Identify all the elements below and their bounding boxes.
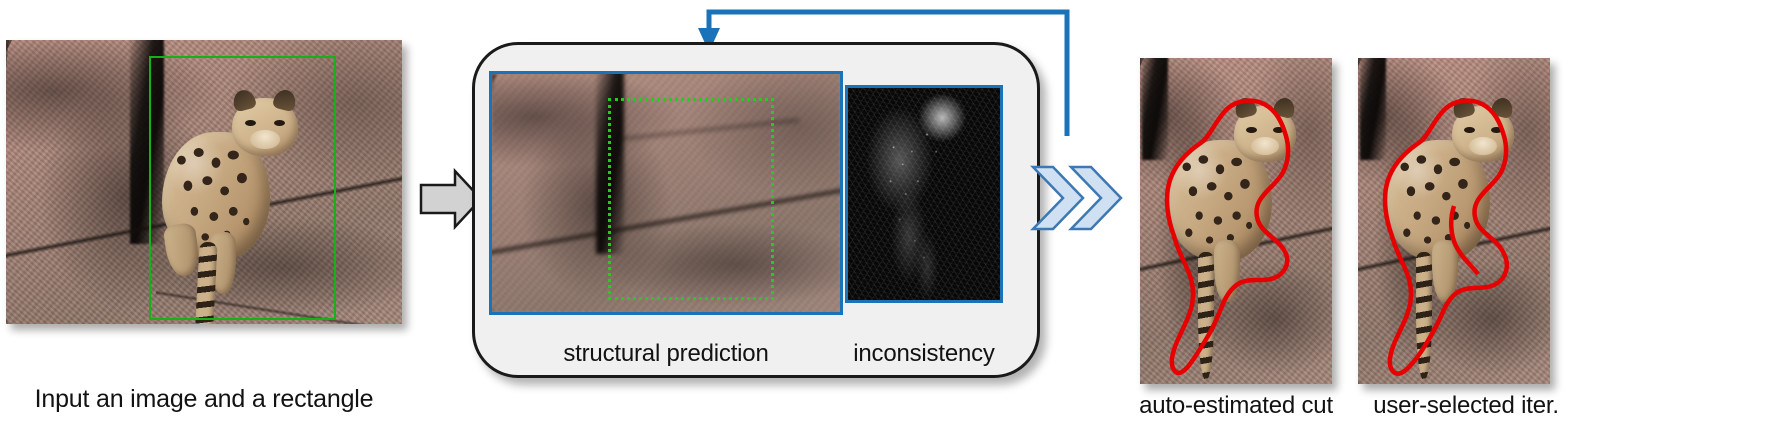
inconsistency-caption: inconsistency bbox=[848, 340, 1000, 368]
structural-prediction-caption: structural prediction bbox=[492, 340, 840, 368]
chevron-arrows-pipeline-to-output bbox=[1030, 163, 1126, 237]
input-caption: Input an image and a rectangle bbox=[6, 385, 402, 414]
auto-estimated-cut-caption: auto-estimated cut bbox=[1110, 392, 1362, 420]
structural-prediction-image[interactable] bbox=[492, 74, 840, 312]
cat-ear-left bbox=[231, 87, 258, 112]
cat-eye-right bbox=[274, 120, 285, 126]
inconsistency-edge-map bbox=[848, 88, 1000, 300]
user-selected-iter-image[interactable] bbox=[1358, 58, 1550, 384]
user-selected-iter-caption: user-selected iter. bbox=[1340, 392, 1592, 420]
cat-subject bbox=[154, 92, 322, 324]
cat-head bbox=[232, 98, 298, 156]
auto-estimated-cut-image[interactable] bbox=[1140, 58, 1332, 384]
input-image[interactable] bbox=[6, 40, 402, 324]
cat-muzzle bbox=[250, 130, 279, 149]
auto-estimated-cut-contour bbox=[1140, 58, 1332, 384]
cat-eye-left bbox=[245, 120, 256, 126]
user-selected-iter-contour bbox=[1358, 58, 1550, 384]
inconsistency-image[interactable] bbox=[848, 88, 1000, 300]
chevron-right-icon-1 bbox=[1033, 167, 1083, 229]
rock-texture-prediction bbox=[492, 74, 840, 312]
cat-ear-right bbox=[272, 87, 299, 112]
